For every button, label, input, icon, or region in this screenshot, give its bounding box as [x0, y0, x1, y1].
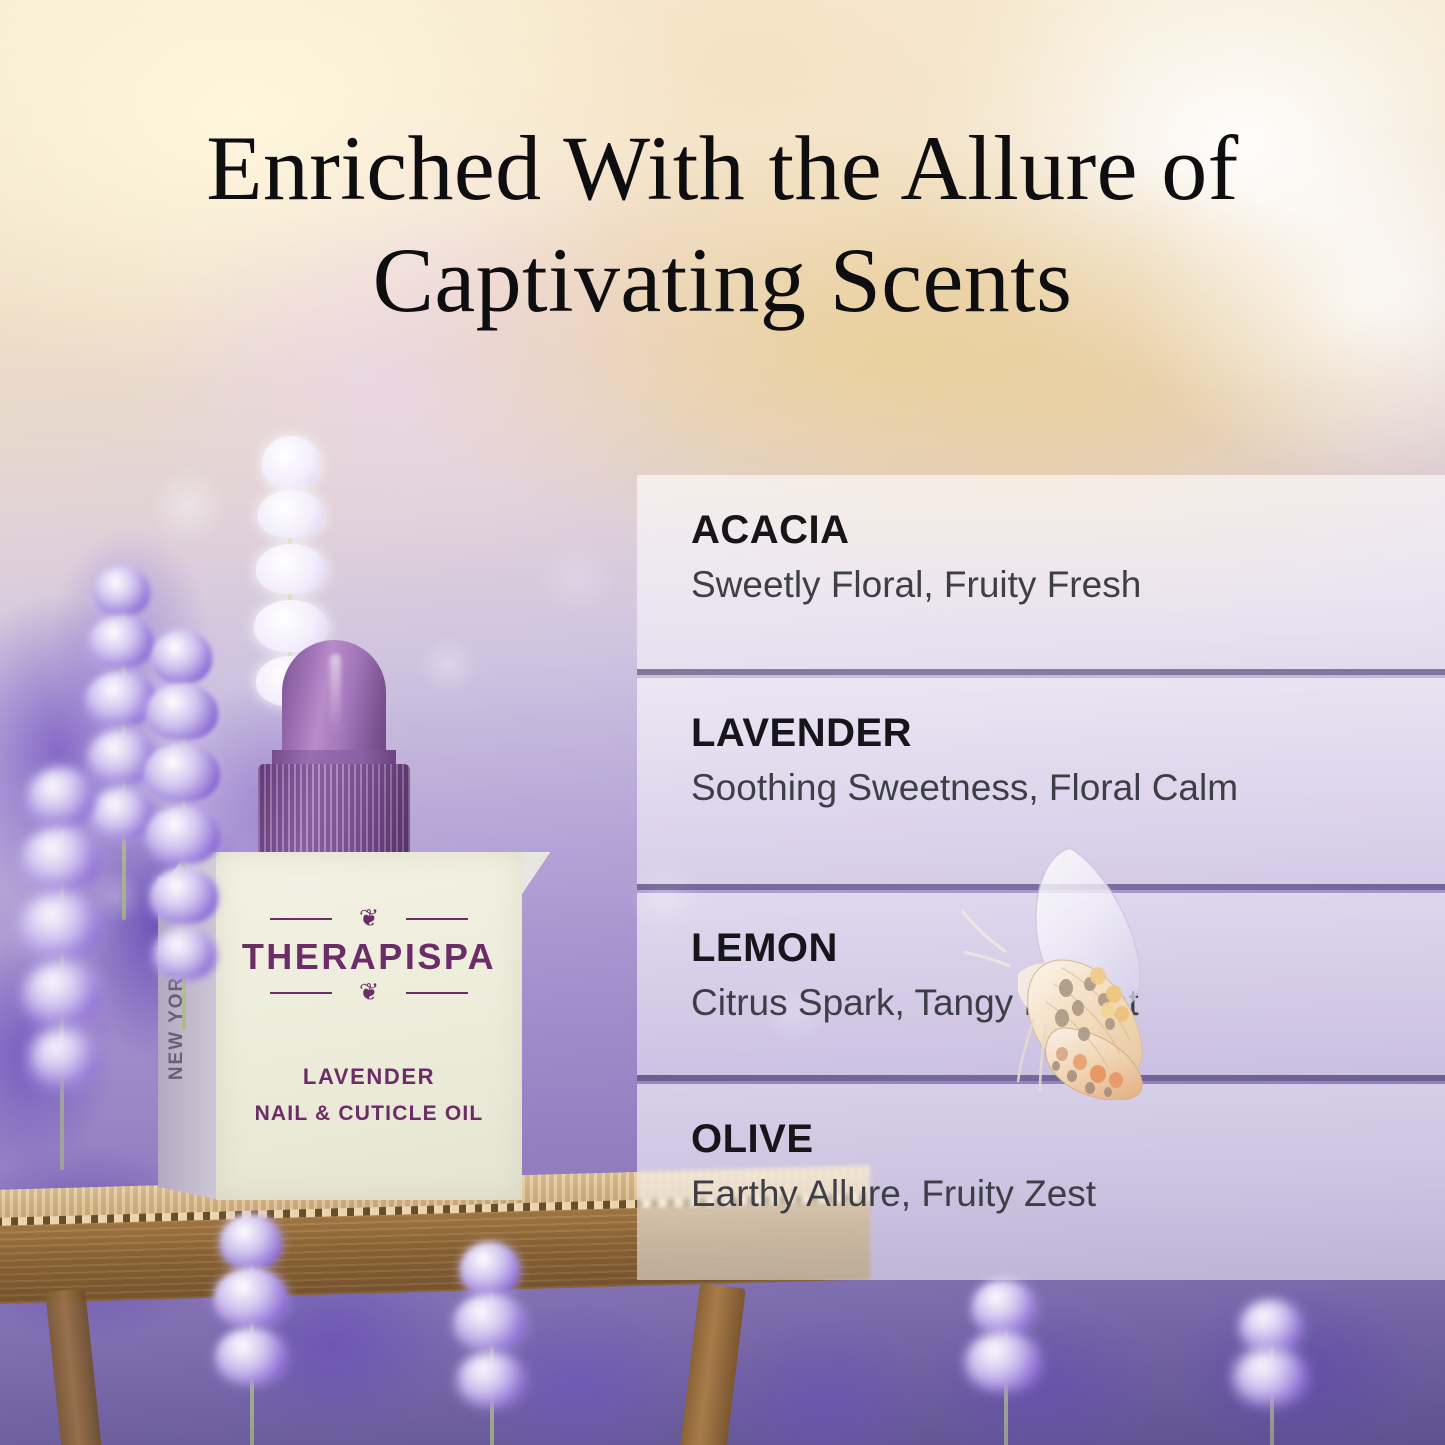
- box-side-text: NEW YORK: [166, 960, 188, 1080]
- scent-name: ACACIA: [691, 509, 1445, 551]
- box-front-face: ❦ THERAPISPA ❦ LAVENDER NAIL & CUTICLE O…: [216, 852, 522, 1200]
- headline-line-2: Captivating Scents: [70, 224, 1375, 336]
- scent-panel-lavender[interactable]: LAVENDER Soothing Sweetness, Floral Calm: [637, 678, 1445, 884]
- product-type: NAIL & CUTICLE OIL: [216, 1102, 522, 1126]
- scent-name: LAVENDER: [691, 712, 1445, 754]
- scent-description: Sweetly Floral, Fruity Fresh: [691, 563, 1445, 607]
- page-title: Enriched With the Allure of Captivating …: [0, 112, 1445, 336]
- product-marketing-image: NEW YORK ❦ THERAPISPA ❦: [0, 0, 1445, 1445]
- product-variant: LAVENDER: [216, 1064, 522, 1090]
- scent-panel-olive[interactable]: OLIVE Earthy Allure, Fruity Zest: [637, 1084, 1445, 1280]
- flourish-knot-icon: ❦: [359, 981, 379, 1005]
- product-sublabel: LAVENDER NAIL & CUTICLE OIL: [216, 1064, 522, 1126]
- scent-name: OLIVE: [691, 1118, 1445, 1160]
- scent-name: LEMON: [691, 927, 1445, 969]
- flourish-bottom-icon: ❦: [264, 980, 474, 1006]
- product-label: ❦ THERAPISPA ❦: [216, 906, 522, 1006]
- scent-description: Earthy Allure, Fruity Zest: [691, 1172, 1445, 1216]
- flourish-top-icon: ❦: [264, 906, 474, 932]
- brand-name: THERAPISPA: [216, 936, 522, 978]
- product-box: NEW YORK ❦ THERAPISPA ❦: [150, 852, 550, 1200]
- scent-list: ACACIA Sweetly Floral, Fruity Fresh LAVE…: [637, 475, 1445, 1280]
- scent-description: Citrus Spark, Tangy Delight: [691, 981, 1445, 1025]
- product-bottle: NEW YORK ❦ THERAPISPA ❦: [150, 640, 550, 1200]
- cap-ribbed-ring: [258, 764, 410, 858]
- flourish-knot-icon: ❦: [359, 907, 379, 931]
- scent-description: Soothing Sweetness, Floral Calm: [691, 766, 1445, 810]
- scent-panel-lemon[interactable]: LEMON Citrus Spark, Tangy Delight: [637, 893, 1445, 1075]
- scent-panel-acacia[interactable]: ACACIA Sweetly Floral, Fruity Fresh: [637, 475, 1445, 669]
- bottle-cap: [258, 640, 410, 858]
- headline-line-1: Enriched With the Allure of: [206, 117, 1238, 219]
